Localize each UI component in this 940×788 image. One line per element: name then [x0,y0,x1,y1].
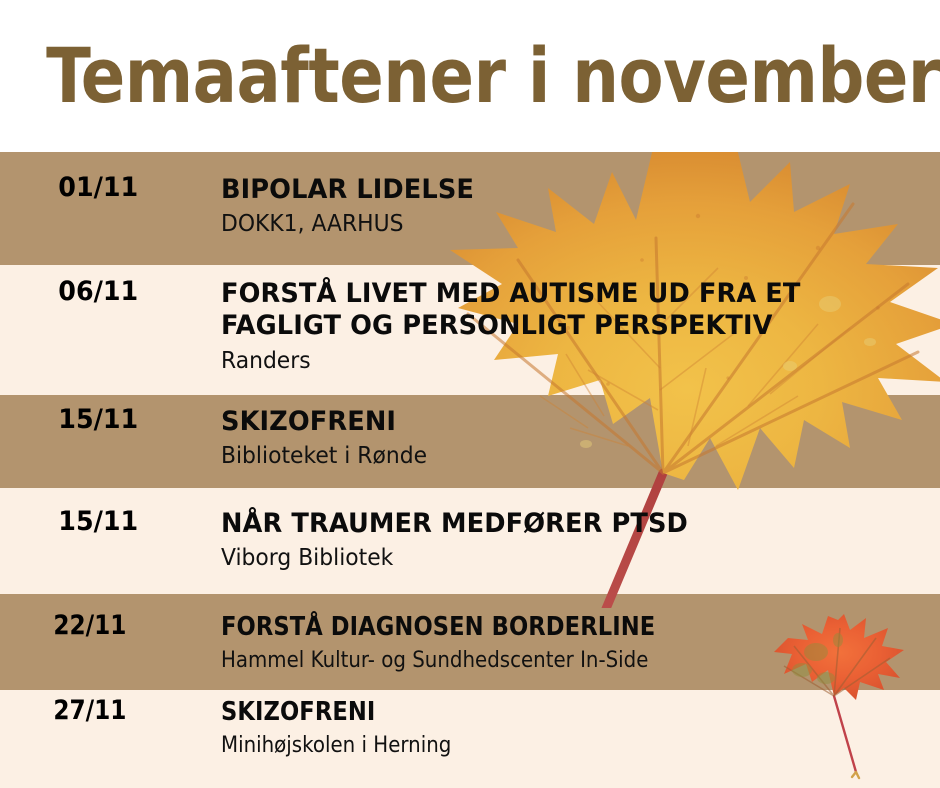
event-location: Randers [221,347,904,376]
event-row-2[interactable]: 06/11 FORSTÅ LIVET MED AUTISME UD FRA ET… [0,278,940,376]
event-info: FORSTÅ DIAGNOSEN BORDERLINE Hammel Kultu… [160,612,940,675]
event-location: Viborg Bibliotek [221,544,904,573]
event-info: FORSTÅ LIVET MED AUTISME UD FRA ET FAGLI… [160,278,940,376]
event-info: SKIZOFRENI Biblioteket i Rønde [160,406,940,471]
event-title: SKIZOFRENI [221,406,904,438]
event-row-3[interactable]: 15/11 SKIZOFRENI Biblioteket i Rønde [0,406,940,471]
page-title: Temaaftener i november [0,38,940,114]
title-area: Temaaftener i november [0,0,940,152]
event-info: SKIZOFRENI Minihøjskolen i Herning [160,697,940,760]
event-location: Biblioteket i Rønde [221,442,904,471]
event-location: Hammel Kultur- og Sundhedscenter In-Side [221,647,868,675]
event-row-4[interactable]: 15/11 NÅR TRAUMER MEDFØRER PTSD Viborg B… [0,508,940,573]
event-location: DOKK1, AARHUS [221,210,904,239]
event-title: SKIZOFRENI [221,697,847,728]
event-row-5[interactable]: 22/11 FORSTÅ DIAGNOSEN BORDERLINE Hammel… [0,612,940,675]
event-title: BIPOLAR LIDELSE [221,174,904,206]
event-date: 22/11 [0,612,138,640]
event-date: 15/11 [0,406,150,434]
event-title: FORSTÅ LIVET MED AUTISME UD FRA ET [221,278,904,310]
event-date: 27/11 [0,697,138,725]
event-location: Minihøjskolen i Herning [221,732,868,760]
event-date: 01/11 [0,174,150,202]
event-date: 06/11 [0,278,150,306]
event-title: FORSTÅ DIAGNOSEN BORDERLINE [221,612,847,643]
event-info: NÅR TRAUMER MEDFØRER PTSD Viborg Bibliot… [160,508,940,573]
event-title: NÅR TRAUMER MEDFØRER PTSD [221,508,904,540]
event-title-line-2: FAGLIGT OG PERSONLIGT PERSPEKTIV [221,310,904,342]
event-row-1[interactable]: 01/11 BIPOLAR LIDELSE DOKK1, AARHUS [0,174,940,239]
event-date: 15/11 [0,508,150,536]
poster-root: Temaaftener i november 01/11 BIPOLAR LID… [0,0,940,788]
event-row-6[interactable]: 27/11 SKIZOFRENI Minihøjskolen i Herning [0,697,940,760]
event-info: BIPOLAR LIDELSE DOKK1, AARHUS [160,174,940,239]
